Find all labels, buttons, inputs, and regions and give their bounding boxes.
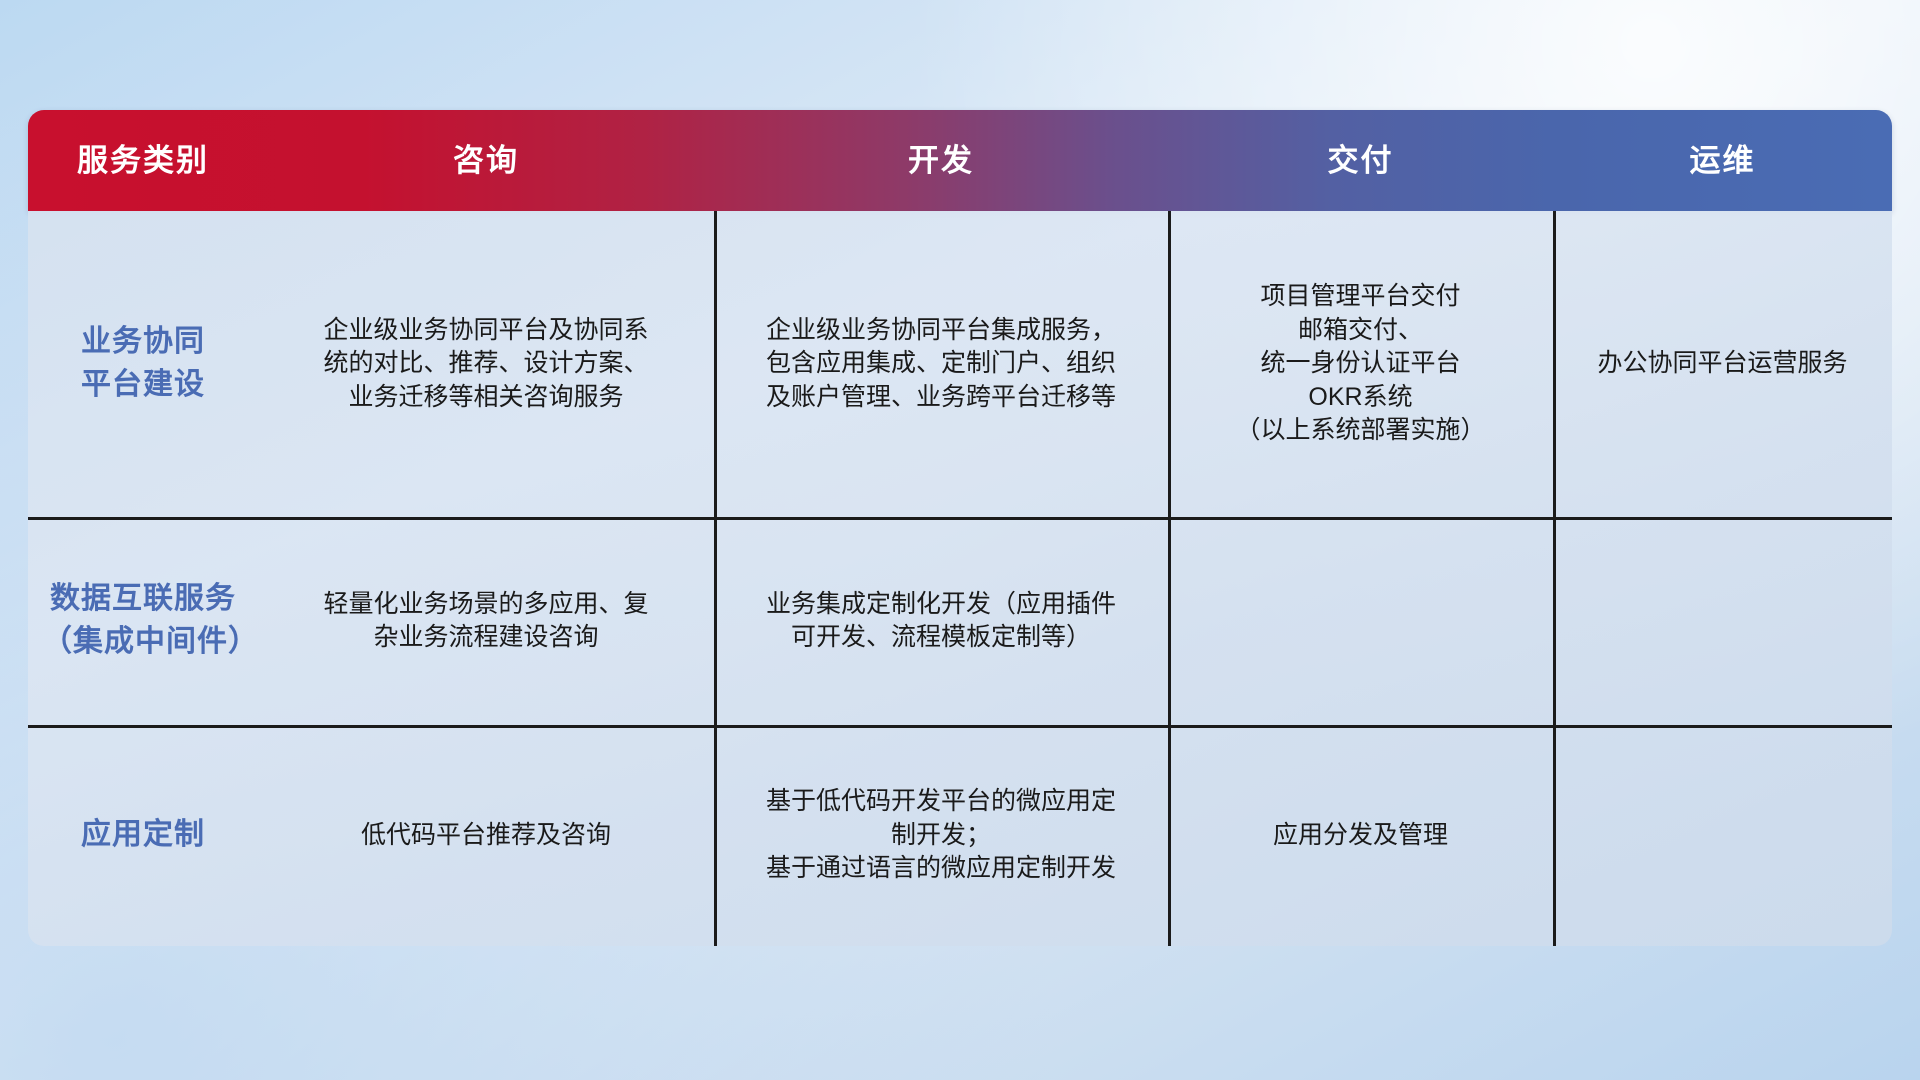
cell-operations-row2 — [1553, 517, 1892, 725]
table-header-consulting: 咨询 — [258, 110, 714, 211]
row-label-app-customization: 应用定制 — [28, 725, 258, 946]
column-divider-delivery-operations — [1553, 211, 1556, 946]
table-header-service-category: 服务类别 — [28, 110, 258, 211]
cell-operations-row3 — [1553, 725, 1892, 946]
table-header-operations: 运维 — [1553, 110, 1892, 211]
column-divider-consulting-development — [714, 211, 717, 946]
slide-canvas: 服务类别 咨询 开发 交付 运维 业务协同 平台建设 企业级业务协同平台及协同系… — [0, 0, 1920, 1080]
row-divider-1 — [28, 517, 1892, 520]
table-header-row: 服务类别 咨询 开发 交付 运维 — [28, 110, 1892, 211]
table-body: 业务协同 平台建设 企业级业务协同平台及协同系 统的对比、推荐、设计方案、 业务… — [28, 211, 1892, 946]
row-label-data-interconnect: 数据互联服务 （集成中间件） — [28, 517, 258, 725]
cell-delivery-row2 — [1168, 517, 1553, 725]
table-row: 数据互联服务 （集成中间件） 轻量化业务场景的多应用、复 杂业务流程建设咨询 业… — [28, 517, 1892, 725]
service-matrix-table: 服务类别 咨询 开发 交付 运维 业务协同 平台建设 企业级业务协同平台及协同系… — [28, 110, 1892, 946]
cell-consulting-row2: 轻量化业务场景的多应用、复 杂业务流程建设咨询 — [258, 517, 714, 725]
cell-development-row1: 企业级业务协同平台集成服务， 包含应用集成、定制门户、组织 及账户管理、业务跨平… — [714, 211, 1168, 517]
cell-consulting-row1: 企业级业务协同平台及协同系 统的对比、推荐、设计方案、 业务迁移等相关咨询服务 — [258, 211, 714, 517]
table-header-development: 开发 — [714, 110, 1168, 211]
cell-operations-row1: 办公协同平台运营服务 — [1553, 211, 1892, 517]
row-divider-2 — [28, 725, 1892, 728]
table-row: 应用定制 低代码平台推荐及咨询 基于低代码开发平台的微应用定 制开发； 基于通过… — [28, 725, 1892, 946]
table-row: 业务协同 平台建设 企业级业务协同平台及协同系 统的对比、推荐、设计方案、 业务… — [28, 211, 1892, 517]
cell-development-row3: 基于低代码开发平台的微应用定 制开发； 基于通过语言的微应用定制开发 — [714, 725, 1168, 946]
cell-delivery-row1: 项目管理平台交付 邮箱交付、 统一身份认证平台 OKR系统 （以上系统部署实施） — [1168, 211, 1553, 517]
table-header-delivery: 交付 — [1168, 110, 1553, 211]
row-label-business-collaboration: 业务协同 平台建设 — [28, 211, 258, 517]
cell-consulting-row3: 低代码平台推荐及咨询 — [258, 725, 714, 946]
cell-delivery-row3: 应用分发及管理 — [1168, 725, 1553, 946]
column-divider-development-delivery — [1168, 211, 1171, 946]
cell-development-row2: 业务集成定制化开发（应用插件 可开发、流程模板定制等） — [714, 517, 1168, 725]
